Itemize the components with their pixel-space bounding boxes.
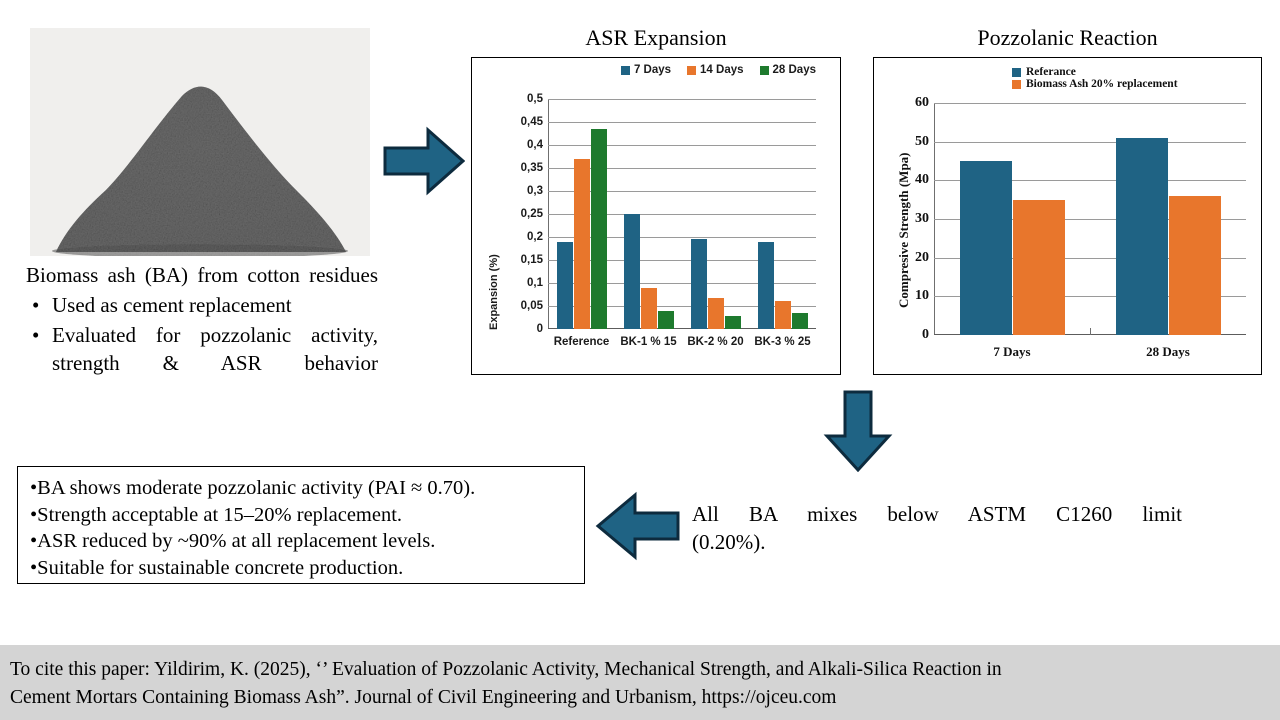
left-bullet-list: Used as cement replacement Evaluated for… — [26, 292, 378, 378]
conclusion-line: •BA shows moderate pozzolanic activity (… — [30, 475, 574, 502]
asr-chart-title: ASR Expansion — [471, 25, 841, 51]
bar — [1013, 200, 1065, 335]
bar — [691, 239, 707, 329]
pozzolanic-y-axis-label: Compresive Strength (Mpa) — [896, 152, 912, 308]
axis-separator — [1090, 328, 1091, 335]
bar-group — [548, 99, 615, 329]
asr-category-labels: Reference BK-1 % 15 BK-2 % 20 BK-3 % 25 — [548, 336, 816, 348]
bar — [658, 311, 674, 329]
y-axis-tick: 0,25 — [521, 208, 543, 220]
y-axis-tick: 0 — [922, 327, 929, 343]
astm-note-line2: (0.20%). — [692, 528, 1182, 556]
pozzolanic-category-labels: 7 Days 28 Days — [934, 344, 1246, 360]
conclusion-line: •Suitable for sustainable concrete produ… — [30, 555, 574, 582]
asr-chart-container: 7 Days 14 Days 28 Days Expansion (%) 00,… — [471, 57, 841, 375]
bar — [557, 242, 573, 329]
legend-swatch-orange — [687, 66, 696, 75]
y-axis-tick: 0,3 — [527, 185, 543, 197]
conclusions-box: •BA shows moderate pozzolanic activity (… — [17, 466, 585, 584]
ash-heap-shape — [50, 80, 350, 256]
citation-band: To cite this paper: Yildirim, K. (2025),… — [0, 645, 1280, 720]
astm-limit-note: All BA mixes below ASTM C1260 limit (0.2… — [692, 500, 1182, 556]
y-axis-tick: 0,1 — [527, 277, 543, 289]
asr-y-axis-label: Expansion (%) — [488, 254, 500, 330]
arrow-left-icon — [594, 491, 680, 561]
pozzolanic-category-label: 7 Days — [934, 344, 1090, 360]
bar — [775, 301, 791, 329]
left-description: Biomass ash (BA) from cotton residues Us… — [26, 262, 378, 380]
y-axis-tick: 0,45 — [521, 116, 543, 128]
y-axis-tick: 30 — [915, 211, 929, 227]
bar-group — [749, 99, 816, 329]
y-axis-tick: 50 — [915, 134, 929, 150]
bar — [641, 288, 657, 329]
bar — [1116, 138, 1168, 335]
asr-chart-legend: 7 Days 14 Days 28 Days — [472, 58, 840, 76]
y-axis-tick: 0,5 — [527, 93, 543, 105]
bar-group — [682, 99, 749, 329]
asr-plot-area: 00,050,10,150,20,250,30,350,40,450,5 — [548, 99, 816, 329]
legend-item-referance: Referance — [1012, 66, 1261, 78]
legend-item-14-days: 14 Days — [687, 64, 743, 76]
y-axis-tick: 0,05 — [521, 300, 543, 312]
bar — [708, 298, 724, 329]
legend-swatch-blue — [1012, 68, 1021, 77]
y-axis-tick: 0,4 — [527, 139, 543, 151]
pozzolanic-plot-area: 0102030405060 — [934, 103, 1246, 335]
conclusion-line: •ASR reduced by ~90% at all replacement … — [30, 528, 574, 555]
legend-item-7-days: 7 Days — [621, 64, 671, 76]
citation-line2: Cement Mortars Containing Biomass Ash”. … — [10, 684, 1266, 712]
legend-label: 28 Days — [773, 64, 816, 76]
pozzolanic-category-label: 28 Days — [1090, 344, 1246, 360]
legend-item-biomass-ash: Biomass Ash 20% replacement — [1012, 78, 1261, 90]
asr-category-label: BK-2 % 20 — [682, 336, 749, 348]
legend-swatch-green — [760, 66, 769, 75]
legend-label: 7 Days — [634, 64, 671, 76]
legend-label: 14 Days — [700, 64, 743, 76]
pozzolanic-chart-legend: Referance Biomass Ash 20% replacement — [874, 58, 1261, 90]
bar — [960, 161, 1012, 335]
pozzolanic-chart-container: Referance Biomass Ash 20% replacement Co… — [873, 57, 1262, 375]
bar — [792, 313, 808, 329]
arrow-down-icon — [823, 390, 893, 472]
bar — [725, 316, 741, 329]
legend-item-28-days: 28 Days — [760, 64, 816, 76]
bar — [574, 159, 590, 329]
left-lead-text: Biomass ash (BA) from cotton residues — [26, 262, 378, 290]
list-item: Evaluated for pozzolanic activity, stren… — [52, 322, 378, 378]
bar — [1169, 196, 1221, 335]
y-axis-tick: 0 — [537, 323, 543, 335]
bar — [591, 129, 607, 329]
bar — [758, 242, 774, 329]
arrow-right-icon — [383, 126, 465, 196]
pozzolanic-chart-title: Pozzolanic Reaction — [873, 25, 1262, 51]
y-axis-tick: 20 — [915, 250, 929, 266]
bar-group — [615, 99, 682, 329]
citation-line1: To cite this paper: Yildirim, K. (2025),… — [10, 656, 1266, 684]
bar-group — [934, 103, 1090, 335]
y-axis-tick: 10 — [915, 288, 929, 304]
bar-group — [1090, 103, 1246, 335]
y-axis-tick: 40 — [915, 172, 929, 188]
y-axis-tick: 0,15 — [521, 254, 543, 266]
asr-category-label: BK-3 % 25 — [749, 336, 816, 348]
bar — [624, 214, 640, 329]
legend-label: Referance — [1026, 66, 1076, 78]
y-axis-tick: 0,35 — [521, 162, 543, 174]
list-item: Used as cement replacement — [52, 292, 378, 320]
conclusion-line: •Strength acceptable at 15–20% replaceme… — [30, 502, 574, 529]
asr-category-label: Reference — [548, 336, 615, 348]
y-axis-tick: 60 — [915, 95, 929, 111]
y-axis-tick: 0,2 — [527, 231, 543, 243]
legend-swatch-orange — [1012, 80, 1021, 89]
biomass-ash-photo — [30, 28, 370, 256]
astm-note-line1: All BA mixes below ASTM C1260 limit — [692, 500, 1182, 528]
legend-label: Biomass Ash 20% replacement — [1026, 78, 1178, 90]
legend-swatch-blue — [621, 66, 630, 75]
asr-category-label: BK-1 % 15 — [615, 336, 682, 348]
